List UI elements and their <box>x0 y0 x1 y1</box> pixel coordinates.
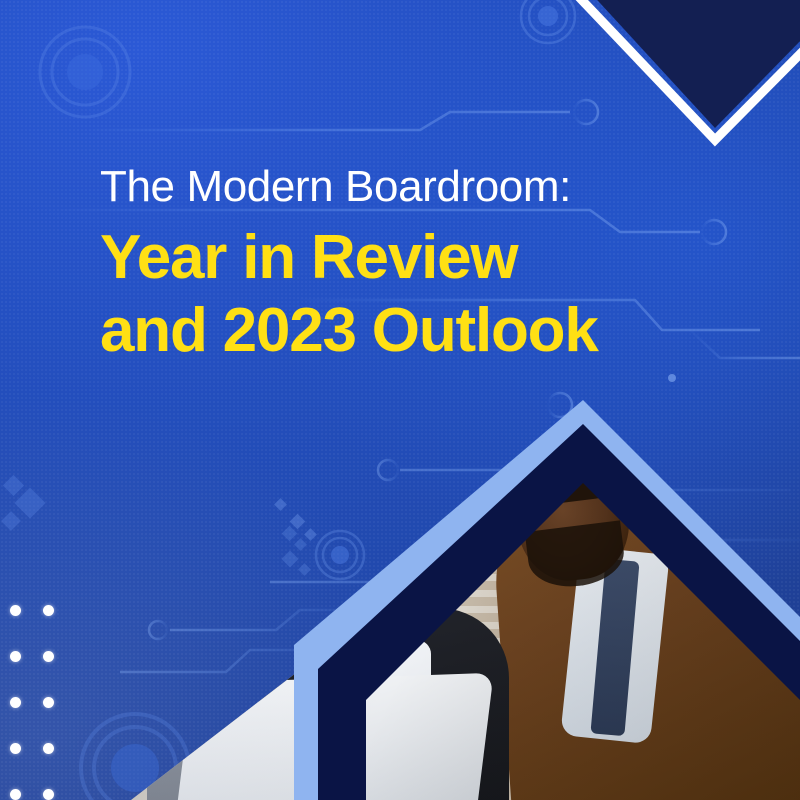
grid-dot <box>10 651 21 662</box>
grid-dot <box>43 789 54 800</box>
headline-block: The Modern Boardroom: Year in Review and… <box>100 164 740 367</box>
grid-dot <box>10 789 21 800</box>
grid-dot <box>10 605 21 616</box>
social-card: The Modern Boardroom: Year in Review and… <box>0 0 800 800</box>
page-title-line-2: and 2023 Outlook <box>100 295 740 368</box>
grid-dot <box>43 651 54 662</box>
grid-dot <box>43 743 54 754</box>
grid-dot <box>43 605 54 616</box>
grid-dot <box>10 743 21 754</box>
page-title-line-1: Year in Review <box>100 222 740 295</box>
grid-dot <box>43 697 54 708</box>
eyebrow-text: The Modern Boardroom: <box>100 164 740 210</box>
grid-dot <box>10 697 21 708</box>
